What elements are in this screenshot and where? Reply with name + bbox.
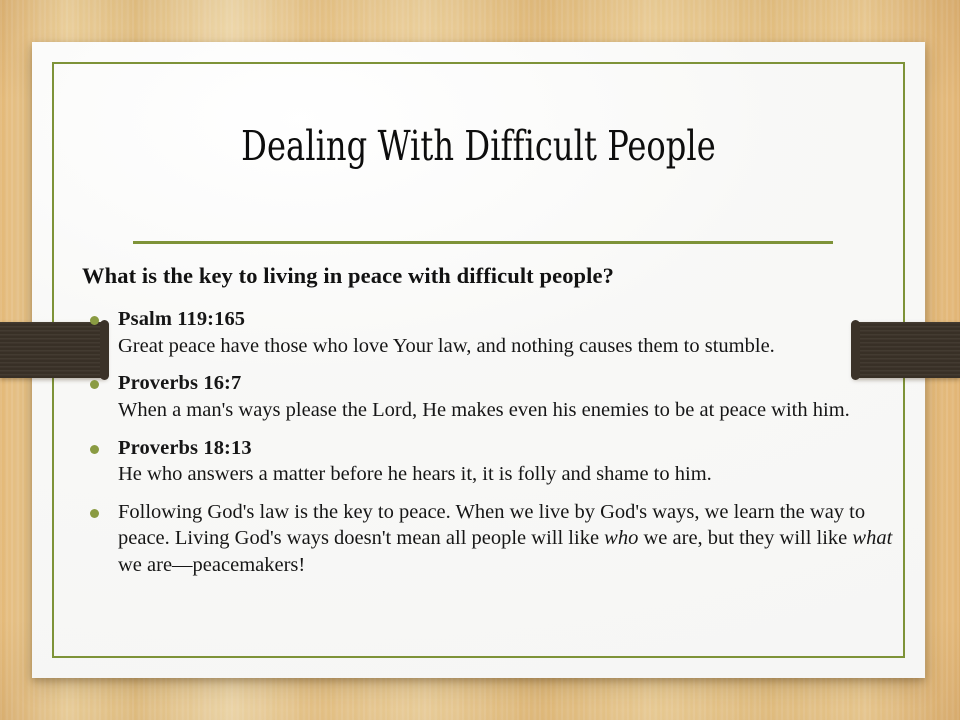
summary-text-part-3: we are—peacemakers! bbox=[118, 554, 305, 576]
bullet-dot-icon bbox=[90, 380, 99, 389]
slide-title: Dealing With Difficult People bbox=[107, 124, 849, 170]
scripture-text: When a man's ways please the Lord, He ma… bbox=[118, 397, 905, 424]
scripture-reference: Proverbs 16:7 bbox=[118, 372, 241, 394]
bullet-list: Psalm 119:165 Great peace have those who… bbox=[82, 306, 905, 579]
slide-root: Dealing With Difficult People What is th… bbox=[0, 0, 960, 720]
slide-content: Dealing With Difficult People What is th… bbox=[52, 62, 905, 658]
bullet-dot-icon bbox=[90, 445, 99, 454]
list-item: Psalm 119:165 Great peace have those who… bbox=[82, 306, 905, 359]
summary-text-part-2: we are, but they will like bbox=[638, 527, 852, 549]
list-item-summary: Following God's law is the key to peace.… bbox=[82, 499, 905, 579]
scripture-text: Great peace have those who love Your law… bbox=[118, 333, 905, 360]
summary-emphasis-what: what bbox=[852, 527, 892, 549]
slide-subtitle: What is the key to living in peace with … bbox=[82, 262, 902, 290]
bullet-dot-icon bbox=[90, 316, 99, 325]
list-item: Proverbs 18:13 He who answers a matter b… bbox=[82, 435, 905, 488]
scripture-text: He who answers a matter before he hears … bbox=[118, 461, 905, 488]
list-item: Proverbs 16:7 When a man's ways please t… bbox=[82, 370, 905, 423]
summary-emphasis-who: who bbox=[604, 527, 638, 549]
scripture-reference: Proverbs 18:13 bbox=[118, 437, 252, 459]
bullet-dot-icon bbox=[90, 509, 99, 518]
scripture-reference: Psalm 119:165 bbox=[118, 308, 245, 330]
title-divider-rule bbox=[133, 241, 833, 244]
